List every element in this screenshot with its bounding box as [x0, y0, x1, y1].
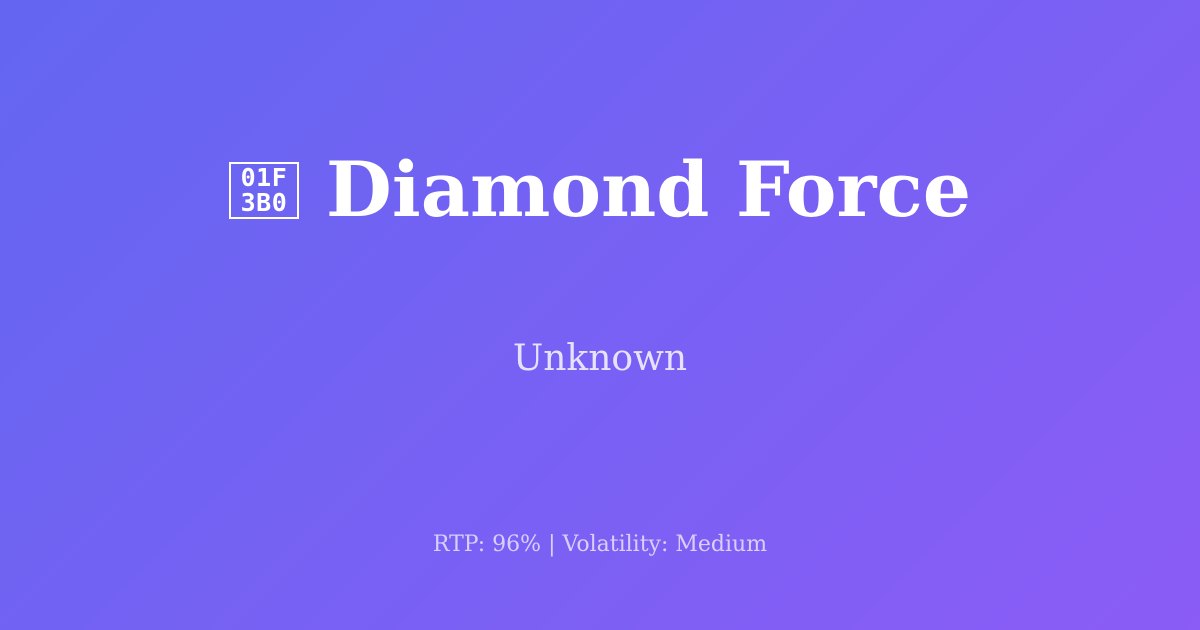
hero-block: 01F 3B0 Diamond Force Unknown: [0, 0, 1200, 478]
title-row: 01F 3B0 Diamond Force: [229, 101, 971, 279]
game-title: Diamond Force: [326, 152, 971, 228]
game-provider: Unknown: [513, 341, 687, 377]
slot-machine-icon-codepoint-hi: 01F: [241, 165, 288, 190]
slot-machine-icon: 01F 3B0: [229, 162, 299, 219]
game-stats-line: RTP: 96% | Volatility: Medium: [0, 534, 1200, 556]
og-share-card: 01F 3B0 Diamond Force Unknown RTP: 96% |…: [0, 0, 1200, 630]
slot-machine-icon-codepoint-lo: 3B0: [241, 190, 288, 215]
